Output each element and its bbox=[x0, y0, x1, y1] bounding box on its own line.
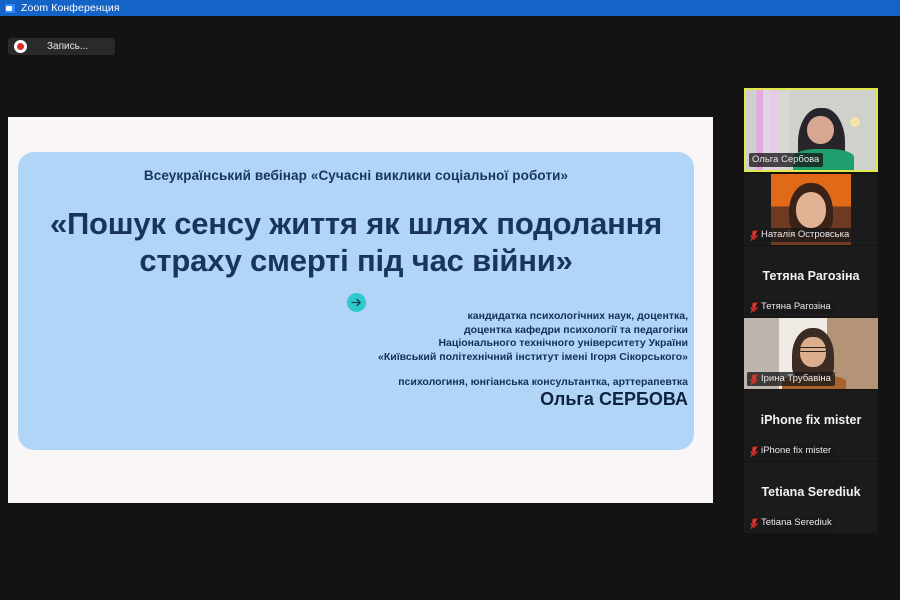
mic-muted-icon bbox=[750, 302, 758, 313]
credential-line-4: «Київський політехнічний інститут імені … bbox=[18, 351, 688, 364]
arrow-circle-icon bbox=[347, 293, 366, 312]
slide-title-line-2: страху смерті під час війни» bbox=[18, 243, 694, 280]
credential-line-3: Національного технічного університету Ук… bbox=[18, 337, 688, 350]
window-titlebar: Zoom Конференция bbox=[0, 0, 900, 16]
shared-screen-area[interactable]: Всеукраїнський вебінар «Сучасні виклики … bbox=[8, 117, 713, 503]
slide-eyebrow: Всеукраїнський вебінар «Сучасні виклики … bbox=[18, 168, 694, 184]
participant-name-label: Наталія Островська bbox=[761, 229, 849, 241]
participant-name-bar: Тетяна Рагозіна bbox=[747, 300, 835, 314]
slide-speaker-name: Ольга СЕРБОВА bbox=[18, 389, 694, 410]
slide-credentials: кандидатка психологічних наук, доцентка,… bbox=[18, 310, 694, 364]
participant-name-label: Ірина Трубавіна bbox=[761, 373, 831, 385]
participant-tile-iryna-trubavina[interactable]: Ірина Трубавіна bbox=[744, 318, 878, 389]
presentation-slide: Всеукраїнський вебінар «Сучасні виклики … bbox=[18, 152, 694, 450]
participant-name-bar: Наталія Островська bbox=[747, 228, 853, 242]
participant-name-label: iPhone fix mister bbox=[761, 445, 831, 457]
participant-tile-nataliia-ostrovska[interactable]: Наталія Островська bbox=[744, 174, 878, 245]
participant-name-label: Tetiana Serediuk bbox=[761, 517, 832, 529]
participant-name-label: Ольга Сербова bbox=[752, 154, 819, 166]
credential-line-2: доцентка кафедри психології та педагогік… bbox=[18, 324, 688, 337]
mic-muted-icon bbox=[750, 446, 758, 457]
recording-label: Запись... bbox=[47, 41, 88, 52]
participant-name-label: Тетяна Рагозіна bbox=[761, 301, 831, 313]
zoom-app-icon bbox=[4, 3, 16, 14]
recording-indicator-button[interactable]: Запись... bbox=[8, 38, 115, 55]
mic-muted-icon bbox=[750, 374, 758, 385]
mic-muted-icon bbox=[750, 230, 758, 241]
zoom-meeting-window: Zoom Конференция Запись... Всеукраїнськи… bbox=[0, 0, 900, 600]
participant-name-bar: iPhone fix mister bbox=[747, 444, 835, 458]
window-title: Zoom Конференция bbox=[21, 0, 120, 16]
record-dot-icon bbox=[14, 40, 27, 53]
participant-tile-iphone-fix-mister[interactable]: iPhone fix mister iPhone fix mister bbox=[744, 390, 878, 461]
meeting-toolbar: Запись... bbox=[0, 16, 900, 44]
slide-title: «Пошук сенсу життя як шлях подолання стр… bbox=[18, 206, 694, 279]
participant-tile-tetiana-rahozina[interactable]: Тетяна Рагозіна Тетяна Рагозіна bbox=[744, 246, 878, 317]
participant-tile-tetiana-serediuk[interactable]: Tetiana Serediuk Tetiana Serediuk bbox=[744, 462, 878, 533]
slide-speaker-role: психологиня, юнгіанська консультантка, а… bbox=[18, 376, 694, 388]
participant-filmstrip[interactable]: Ольга Сербова Наталія Островська Тетяна … bbox=[744, 88, 878, 528]
participant-name-bar: Tetiana Serediuk bbox=[747, 516, 836, 530]
mic-muted-icon bbox=[750, 518, 758, 529]
participant-name-bar: Ольга Сербова bbox=[749, 153, 823, 167]
slide-title-line-1: «Пошук сенсу життя як шлях подолання bbox=[18, 206, 694, 243]
credential-line-1: кандидатка психологічних наук, доцентка, bbox=[18, 310, 688, 323]
participant-name-bar: Ірина Трубавіна bbox=[747, 372, 835, 386]
participant-tile-olha-serbova[interactable]: Ольга Сербова bbox=[744, 88, 878, 172]
